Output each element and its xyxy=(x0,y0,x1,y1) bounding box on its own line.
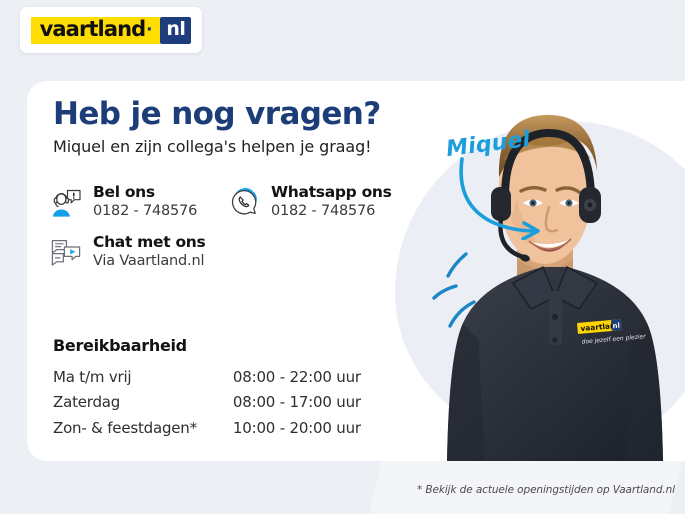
contact-chat-title: Chat met ons xyxy=(93,233,205,251)
contact-call-text: Bel ons 0182 - 748576 xyxy=(93,184,197,222)
hours-time: 08:00 - 22:00 uur xyxy=(233,365,361,390)
footnote: * Bekijk de actuele openingstijden op Va… xyxy=(417,484,675,496)
contact-chat-value: Via Vaartland.nl xyxy=(93,253,204,269)
heading-block: Heb je nog vragen? Miquel en zijn colleg… xyxy=(53,97,473,156)
logo-wordmark: vaartland xyxy=(40,19,146,40)
contact-row-secondary: Chat met ons Via Vaartland.nl xyxy=(49,234,449,272)
hours-day: Ma t/m vrij xyxy=(53,365,233,390)
contact-call[interactable]: Bel ons 0182 - 748576 xyxy=(49,184,227,222)
logo-dot: · xyxy=(145,18,153,42)
contact-chat-text: Chat met ons Via Vaartland.nl xyxy=(93,234,205,272)
contact-methods: Bel ons 0182 - 748576 Whatsapp on xyxy=(49,184,449,283)
contact-call-title: Bel ons xyxy=(93,183,155,201)
logo-lockup: vaartland · nl xyxy=(31,17,192,44)
content-card: Heb je nog vragen? Miquel en zijn colleg… xyxy=(27,81,685,461)
table-row: Ma t/m vrij 08:00 - 22:00 uur xyxy=(53,365,361,390)
contact-whatsapp[interactable]: Whatsapp ons 0182 - 748576 xyxy=(227,184,427,222)
page-subtitle: Miquel en zijn collega's helpen je graag… xyxy=(53,137,473,156)
opening-hours-title: Bereikbaarheid xyxy=(53,336,361,355)
contact-whatsapp-title: Whatsapp ons xyxy=(271,183,392,201)
hours-time: 10:00 - 20:00 uur xyxy=(233,416,361,441)
curved-arrow-icon xyxy=(452,155,552,240)
headset-person-icon xyxy=(49,186,83,220)
contact-row-primary: Bel ons 0182 - 748576 Whatsapp on xyxy=(49,184,449,222)
logo-yellow-block: vaartland · xyxy=(31,17,161,44)
speed-lines-icon xyxy=(430,250,500,340)
contact-chat[interactable]: Chat met ons Via Vaartland.nl xyxy=(49,234,349,272)
promo-banner: vaartland · nl Heb je nog vragen? Miquel… xyxy=(0,0,685,514)
logo-blue-block: nl xyxy=(160,17,191,44)
page-title: Heb je nog vragen? xyxy=(53,97,473,131)
hours-time: 08:00 - 17:00 uur xyxy=(233,390,361,415)
vaartland-logo[interactable]: vaartland · nl xyxy=(20,7,202,53)
table-row: Zon- & feestdagen* 10:00 - 20:00 uur xyxy=(53,416,361,441)
whatsapp-icon xyxy=(227,186,261,220)
contact-whatsapp-value: 0182 - 748576 xyxy=(271,203,375,219)
svg-text:nl: nl xyxy=(612,322,620,331)
opening-hours: Bereikbaarheid Ma t/m vrij 08:00 - 22:00… xyxy=(53,336,361,441)
hours-day: Zon- & feestdagen* xyxy=(53,416,233,441)
opening-hours-table: Ma t/m vrij 08:00 - 22:00 uur Zaterdag 0… xyxy=(53,365,361,441)
contact-call-value: 0182 - 748576 xyxy=(93,203,197,219)
logo-tld: nl xyxy=(166,20,185,39)
table-row: Zaterdag 08:00 - 17:00 uur xyxy=(53,390,361,415)
chat-bubbles-icon xyxy=(49,236,83,270)
hours-day: Zaterdag xyxy=(53,390,233,415)
contact-whatsapp-text: Whatsapp ons 0182 - 748576 xyxy=(271,184,392,222)
